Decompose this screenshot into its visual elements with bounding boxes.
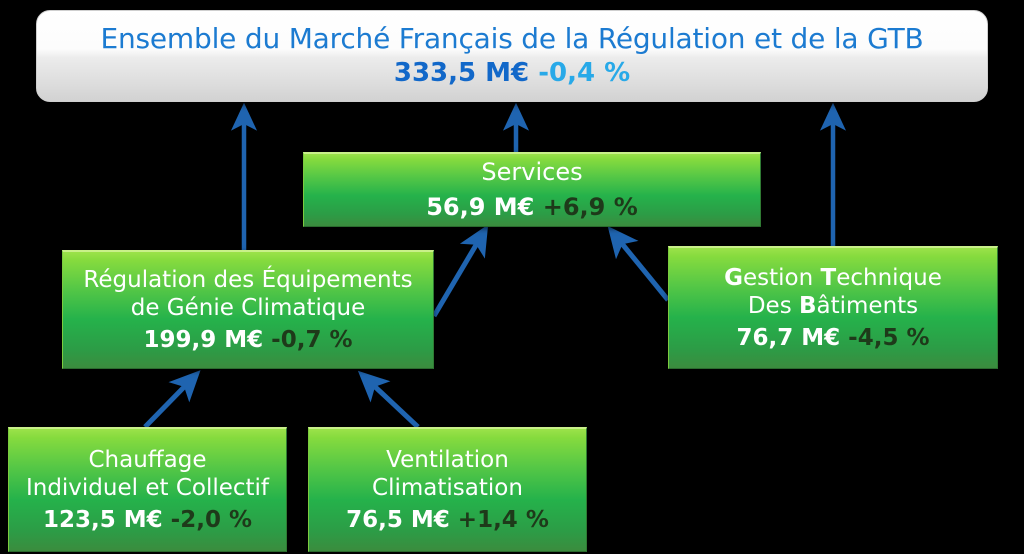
node-regulation-amount: 199,9 M€	[143, 327, 263, 353]
node-ventilation-figures: 76,5 M€ +1,4 %	[346, 506, 549, 535]
arrow-gtb-to-services	[619, 240, 668, 300]
node-gtb-label-line2: Des Bâtiments	[748, 292, 918, 320]
node-gtb-line1-rest-a: estion	[743, 265, 821, 291]
node-gtb-line2-pre: Des	[748, 293, 799, 319]
node-ventilation-label-line2: Climatisation	[372, 474, 523, 502]
node-gtb: Gestion Technique Des Bâtiments 76,7 M€ …	[668, 246, 998, 369]
total-market-box: Ensemble du Marché Français de la Régula…	[36, 10, 988, 102]
node-ventilation-amount: 76,5 M€	[346, 507, 450, 533]
arrow-regulation-to-services	[434, 240, 479, 316]
node-regulation-percent: -0,7 %	[271, 327, 352, 353]
node-regulation-figures: 199,9 M€ -0,7 %	[143, 326, 352, 355]
node-gtb-line2-rest: âtiments	[817, 293, 919, 319]
arrow-chauffage-to-regulation	[145, 383, 188, 427]
node-ventilation-label-line1: Ventilation	[386, 446, 509, 474]
node-chauffage-figures: 123,5 M€ -2,0 %	[43, 506, 252, 535]
node-services-amount: 56,9 M€	[426, 193, 534, 221]
node-gtb-initial-t: T	[821, 265, 837, 291]
node-services-percent: +6,9 %	[543, 193, 638, 221]
node-gtb-figures: 76,7 M€ -4,5 %	[736, 324, 929, 353]
node-gtb-amount: 76,7 M€	[736, 325, 840, 351]
node-gtb-label-line1: Gestion Technique	[724, 264, 942, 292]
node-gtb-initial-g: G	[724, 265, 743, 291]
node-gtb-line1-rest-b: echnique	[836, 265, 942, 291]
node-gtb-percent: -4,5 %	[848, 325, 929, 351]
total-market-amount: 333,5 M€	[394, 58, 529, 88]
arrow-ventilation-to-regulation	[371, 383, 418, 427]
diagram-canvas: Ensemble du Marché Français de la Régula…	[0, 0, 1024, 554]
node-chauffage-amount: 123,5 M€	[43, 507, 163, 533]
node-regulation-label-line2: de Génie Climatique	[131, 294, 366, 322]
total-market-percent: -0,4 %	[538, 58, 630, 88]
node-chauffage-label-line1: Chauffage	[89, 446, 207, 474]
node-regulation-label-line1: Régulation des Équipements	[83, 266, 412, 294]
node-services-figures: 56,9 M€ +6,9 %	[426, 192, 638, 222]
total-market-title: Ensemble du Marché Français de la Régula…	[100, 23, 923, 54]
node-chauffage-label-line2: Individuel et Collectif	[26, 474, 269, 502]
node-services: Services 56,9 M€ +6,9 %	[303, 152, 761, 227]
node-ventilation-percent: +1,4 %	[458, 507, 549, 533]
node-ventilation: Ventilation Climatisation 76,5 M€ +1,4 %	[308, 427, 587, 552]
node-regulation: Régulation des Équipements de Génie Clim…	[62, 250, 434, 369]
node-chauffage-percent: -2,0 %	[171, 507, 252, 533]
node-chauffage: Chauffage Individuel et Collectif 123,5 …	[8, 427, 287, 552]
node-gtb-initial-b: B	[799, 293, 817, 319]
total-market-figures: 333,5 M€ -0,4 %	[394, 58, 630, 89]
node-services-label: Services	[481, 158, 582, 187]
